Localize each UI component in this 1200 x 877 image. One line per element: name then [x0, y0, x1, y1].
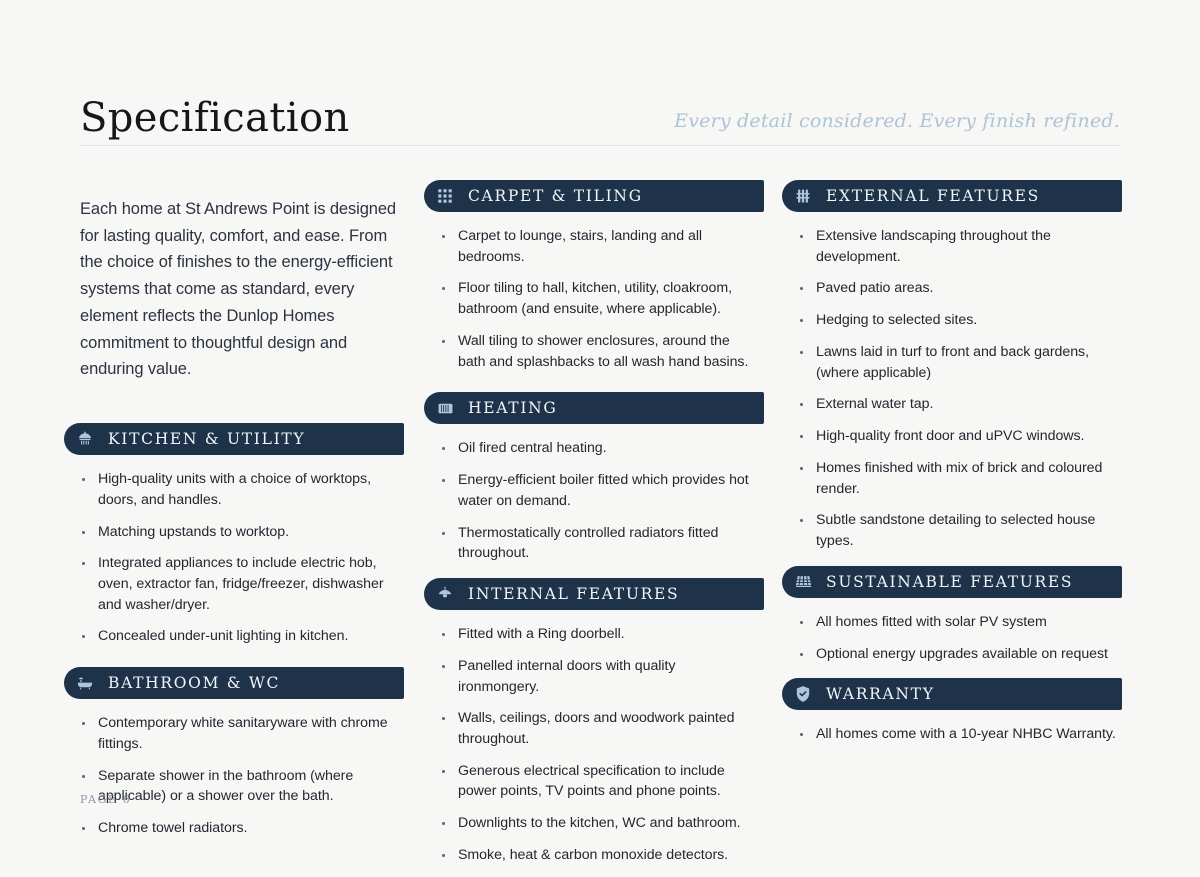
list-item: Thermostatically controlled radiators fi…: [440, 523, 760, 564]
section-title-external-features: EXTERNAL FEATURES: [826, 187, 1040, 205]
list-item: Contemporary white sanitaryware with chr…: [80, 713, 400, 754]
list-warranty: All homes come with a 10-year NHBC Warra…: [782, 724, 1122, 745]
radiator-icon: [434, 397, 456, 419]
list-item: Generous electrical specification to inc…: [440, 761, 760, 802]
list-item: High-quality front door and uPVC windows…: [798, 426, 1118, 447]
section-header-carpet-tiling[interactable]: CARPET & TILING: [424, 180, 764, 212]
list-item: Wall tiling to shower enclosures, around…: [440, 331, 760, 372]
list-heating: Oil fired central heating. Energy-effici…: [424, 438, 764, 564]
section-header-kitchen-utility[interactable]: KITCHEN & UTILITY: [64, 423, 404, 455]
list-item: Homes finished with mix of brick and col…: [798, 458, 1118, 499]
section-title-internal-features: INTERNAL FEATURES: [468, 585, 679, 603]
bathtub-icon: [74, 672, 96, 694]
list-item: Oil fired central heating.: [440, 438, 760, 459]
section-header-sustainable-features[interactable]: SUSTAINABLE FEATURES: [782, 566, 1122, 598]
section-header-heating[interactable]: HEATING: [424, 392, 764, 424]
section-header-external-features[interactable]: EXTERNAL FEATURES: [782, 180, 1122, 212]
section-header-bathroom-wc[interactable]: BATHROOM & WC: [64, 667, 404, 699]
list-item: Floor tiling to hall, kitchen, utility, …: [440, 278, 760, 319]
list-item: Optional energy upgrades available on re…: [798, 644, 1118, 665]
list-item: Extensive landscaping throughout the dev…: [798, 226, 1118, 267]
intro-paragraph: Each home at St Andrews Point is designe…: [80, 196, 400, 383]
section-header-internal-features[interactable]: INTERNAL FEATURES: [424, 578, 764, 610]
list-item: High-quality units with a choice of work…: [80, 469, 400, 510]
shield-check-icon: [792, 683, 814, 705]
section-kitchen-utility: KITCHEN & UTILITY High-quality units wit…: [64, 423, 404, 647]
header-divider: [80, 145, 1120, 146]
page-number-label: PAGE 6: [80, 793, 131, 806]
list-item: Chrome towel radiators.: [80, 818, 400, 839]
list-item: Smoke, heat & carbon monoxide detectors.: [440, 845, 760, 866]
section-carpet-tiling: CARPET & TILING Carpet to lounge, stairs…: [424, 180, 764, 372]
section-title-sustainable-features: SUSTAINABLE FEATURES: [826, 573, 1073, 591]
list-item: Concealed under-unit lighting in kitchen…: [80, 626, 400, 647]
section-sustainable-features: SUSTAINABLE FEATURES All homes fitted wi…: [782, 566, 1122, 664]
section-header-warranty[interactable]: WARRANTY: [782, 678, 1122, 710]
list-item: Hedging to selected sites.: [798, 310, 1118, 331]
list-item: All homes fitted with solar PV system: [798, 612, 1118, 633]
section-title-heating: HEATING: [468, 399, 557, 417]
list-sustainable-features: All homes fitted with solar PV system Op…: [782, 612, 1122, 664]
pendant-light-icon: [434, 583, 456, 605]
list-carpet-tiling: Carpet to lounge, stairs, landing and al…: [424, 226, 764, 372]
kitchen-lamp-icon: [74, 428, 96, 450]
list-item: External water tap.: [798, 394, 1118, 415]
column-right: EXTERNAL FEATURES Extensive landscaping …: [782, 180, 1122, 756]
section-internal-features: INTERNAL FEATURES Fitted with a Ring doo…: [424, 578, 764, 866]
list-item: Carpet to lounge, stairs, landing and al…: [440, 226, 760, 267]
list-item: Panelled internal doors with quality iro…: [440, 656, 760, 697]
list-item: Matching upstands to worktop.: [80, 522, 400, 543]
section-title-warranty: WARRANTY: [826, 685, 935, 703]
list-item: Downlights to the kitchen, WC and bathro…: [440, 813, 760, 834]
list-item: Subtle sandstone detailing to selected h…: [798, 510, 1118, 551]
list-item: Fitted with a Ring doorbell.: [440, 624, 760, 645]
column-middle: CARPET & TILING Carpet to lounge, stairs…: [424, 180, 764, 877]
solar-panel-icon: [792, 571, 814, 593]
section-heating: HEATING Oil fired central heating. Energ…: [424, 392, 764, 564]
page-tagline: Every detail considered. Every finish re…: [674, 110, 1120, 132]
tile-grid-icon: [434, 185, 456, 207]
section-title-kitchen-utility: KITCHEN & UTILITY: [108, 430, 305, 448]
section-external-features: EXTERNAL FEATURES Extensive landscaping …: [782, 180, 1122, 552]
list-internal-features: Fitted with a Ring doorbell. Panelled in…: [424, 624, 764, 866]
section-warranty: WARRANTY All homes come with a 10-year N…: [782, 678, 1122, 745]
specification-page: Specification Every detail considered. E…: [0, 0, 1200, 848]
list-item: Integrated appliances to include electri…: [80, 553, 400, 615]
list-item: Lawns laid in turf to front and back gar…: [798, 342, 1118, 383]
list-item: Paved patio areas.: [798, 278, 1118, 299]
fence-icon: [792, 185, 814, 207]
list-kitchen-utility: High-quality units with a choice of work…: [64, 469, 404, 647]
list-item: All homes come with a 10-year NHBC Warra…: [798, 724, 1118, 745]
section-bathroom-wc: BATHROOM & WC Contemporary white sanitar…: [64, 667, 404, 839]
section-title-carpet-tiling: CARPET & TILING: [468, 187, 643, 205]
page-header: Specification Every detail considered. E…: [80, 80, 1120, 146]
section-title-bathroom-wc: BATHROOM & WC: [108, 674, 280, 692]
list-item: Walls, ceilings, doors and woodwork pain…: [440, 708, 760, 749]
list-bathroom-wc: Contemporary white sanitaryware with chr…: [64, 713, 404, 839]
list-item: Energy-efficient boiler fitted which pro…: [440, 470, 760, 511]
page-title: Specification: [80, 98, 350, 138]
column-left: Each home at St Andrews Point is designe…: [64, 180, 404, 850]
list-external-features: Extensive landscaping throughout the dev…: [782, 226, 1122, 552]
